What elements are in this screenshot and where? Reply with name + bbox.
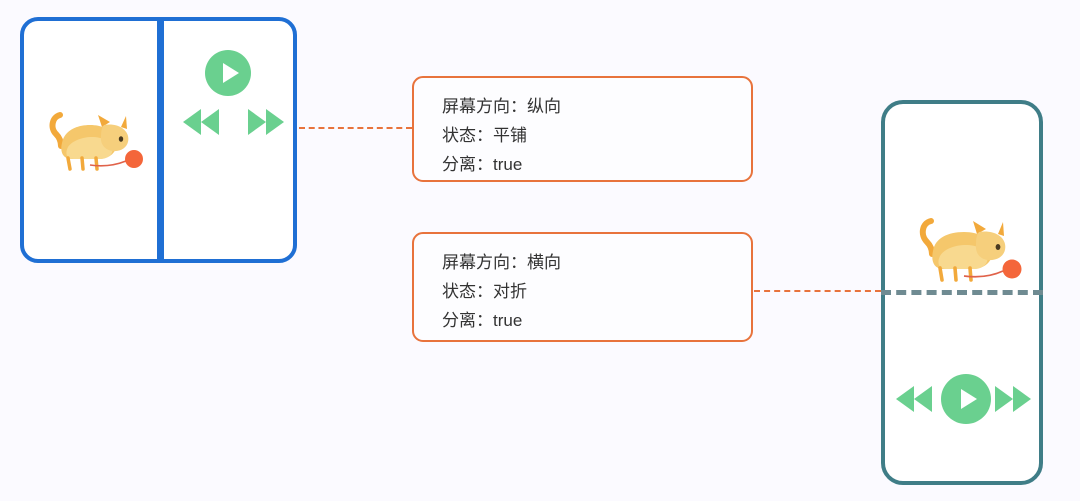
tablet-pane-cat — [24, 21, 157, 259]
rewind-icon[interactable] — [894, 382, 936, 416]
callout-line-orientation: 屏幕方向：横向 — [442, 248, 729, 277]
fast-forward-icon[interactable] — [244, 105, 286, 139]
callout-line-separation: 分离：true — [442, 150, 729, 179]
connector-tablet-to-callout — [299, 127, 412, 129]
rewind-icon[interactable] — [181, 105, 223, 139]
callout-line-orientation: 屏幕方向：纵向 — [442, 92, 729, 121]
connector-callout-to-phone — [754, 290, 881, 292]
device-phone-folded[interactable] — [881, 100, 1043, 485]
callout-line-separation: 分离：true — [442, 306, 729, 335]
fast-forward-icon[interactable] — [991, 382, 1033, 416]
play-circle-icon[interactable] — [941, 374, 991, 424]
cat-illustration-icon — [907, 208, 1025, 286]
diagram-canvas: 屏幕方向：纵向 状态：平铺 分离：true 屏幕方向：横向 状态：对折 分离：t… — [0, 0, 1080, 501]
tablet-pane-player — [164, 21, 297, 259]
callout-line-state: 状态：平铺 — [442, 121, 729, 150]
callout-line-state: 状态：对折 — [442, 277, 729, 306]
device-tablet-dual-pane[interactable] — [20, 17, 297, 263]
cat-illustration-icon — [38, 103, 146, 175]
callout-tablet: 屏幕方向：纵向 状态：平铺 分离：true — [412, 76, 753, 182]
tablet-split-divider-icon — [157, 17, 164, 263]
play-circle-icon[interactable] — [205, 50, 251, 96]
phone-fold-line-icon — [881, 290, 1043, 295]
callout-phone: 屏幕方向：横向 状态：对折 分离：true — [412, 232, 753, 342]
